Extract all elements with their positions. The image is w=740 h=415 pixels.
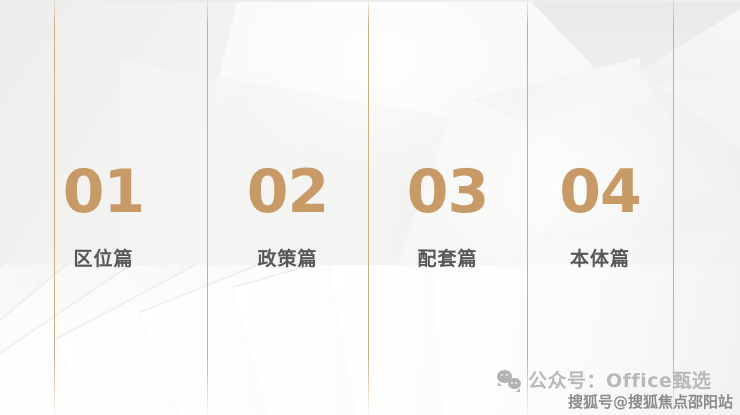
agenda-item-04[interactable]: 04 本体篇 — [527, 0, 673, 415]
agenda-item-03[interactable]: 03 配套篇 — [368, 0, 527, 415]
wechat-icon — [497, 370, 521, 389]
agenda-number: 04 — [559, 162, 641, 222]
agenda-label: 区位篇 — [73, 244, 133, 271]
agenda-number: 01 — [63, 162, 145, 222]
agenda-item-02[interactable]: 02 政策篇 — [207, 0, 368, 415]
presentation-slide: 01 区位篇 02 政策篇 03 配套篇 04 本体篇 公众号：Office甄选… — [0, 0, 740, 415]
wechat-watermark-text: 公众号：Office甄选 — [528, 366, 711, 393]
agenda-columns: 01 区位篇 02 政策篇 03 配套篇 04 本体篇 — [0, 0, 740, 415]
agenda-label: 配套篇 — [417, 244, 477, 271]
agenda-label: 政策篇 — [257, 244, 317, 271]
agenda-number: 03 — [407, 162, 489, 222]
agenda-number: 02 — [247, 162, 329, 222]
agenda-label: 本体篇 — [570, 244, 630, 271]
wechat-watermark: 公众号：Office甄选 — [497, 366, 711, 393]
agenda-item-01[interactable]: 01 区位篇 — [0, 0, 207, 415]
sohu-watermark: 搜狐号@搜狐焦点邵阳站 — [568, 391, 733, 412]
